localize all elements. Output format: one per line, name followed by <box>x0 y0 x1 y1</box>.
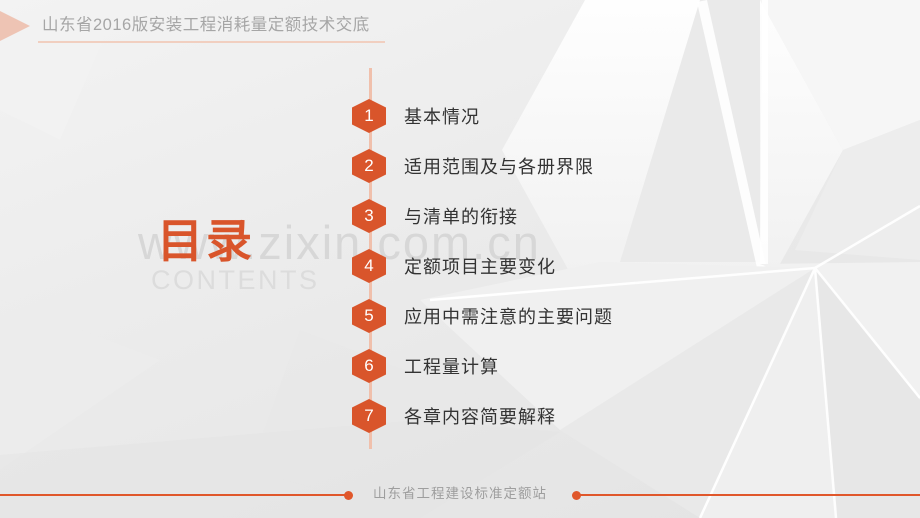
step-badge-3[interactable]: 3 <box>352 199 386 233</box>
step-number: 4 <box>352 249 386 283</box>
toc-item-label: 工程量计算 <box>404 349 499 383</box>
step-number: 5 <box>352 299 386 333</box>
step-number: 3 <box>352 199 386 233</box>
toc-item-label: 与清单的衔接 <box>404 199 518 233</box>
list-item[interactable]: 1 基本情况 <box>0 99 920 133</box>
step-number: 1 <box>352 99 386 133</box>
list-item[interactable]: 4 定额项目主要变化 <box>0 249 920 283</box>
header-underline <box>38 41 385 43</box>
list-item[interactable]: 7 各章内容简要解释 <box>0 399 920 433</box>
step-badge-1[interactable]: 1 <box>352 99 386 133</box>
toc-item-label: 应用中需注意的主要问题 <box>404 299 613 333</box>
step-badge-2[interactable]: 2 <box>352 149 386 183</box>
step-number: 2 <box>352 149 386 183</box>
step-number: 6 <box>352 349 386 383</box>
toc-item-label: 各章内容简要解释 <box>404 399 556 433</box>
footer-rule-right <box>580 494 920 496</box>
toc-item-label: 基本情况 <box>404 99 480 133</box>
toc-item-label: 定额项目主要变化 <box>404 249 556 283</box>
list-item[interactable]: 6 工程量计算 <box>0 349 920 383</box>
list-item[interactable]: 2 适用范围及与各册界限 <box>0 149 920 183</box>
slide-canvas: www.zixin.com.cn 山东省2016版安装工程消耗量定额技术交底 目… <box>0 0 920 518</box>
step-badge-7[interactable]: 7 <box>352 399 386 433</box>
page-title: 山东省2016版安装工程消耗量定额技术交底 <box>42 14 370 36</box>
right-triangle-icon <box>0 11 30 41</box>
list-item[interactable]: 3 与清单的衔接 <box>0 199 920 233</box>
step-number: 7 <box>352 399 386 433</box>
step-badge-6[interactable]: 6 <box>352 349 386 383</box>
slide-header: 山东省2016版安装工程消耗量定额技术交底 <box>0 0 920 52</box>
step-badge-4[interactable]: 4 <box>352 249 386 283</box>
list-item[interactable]: 5 应用中需注意的主要问题 <box>0 299 920 333</box>
toc-item-label: 适用范围及与各册界限 <box>404 149 594 183</box>
step-badge-5[interactable]: 5 <box>352 299 386 333</box>
